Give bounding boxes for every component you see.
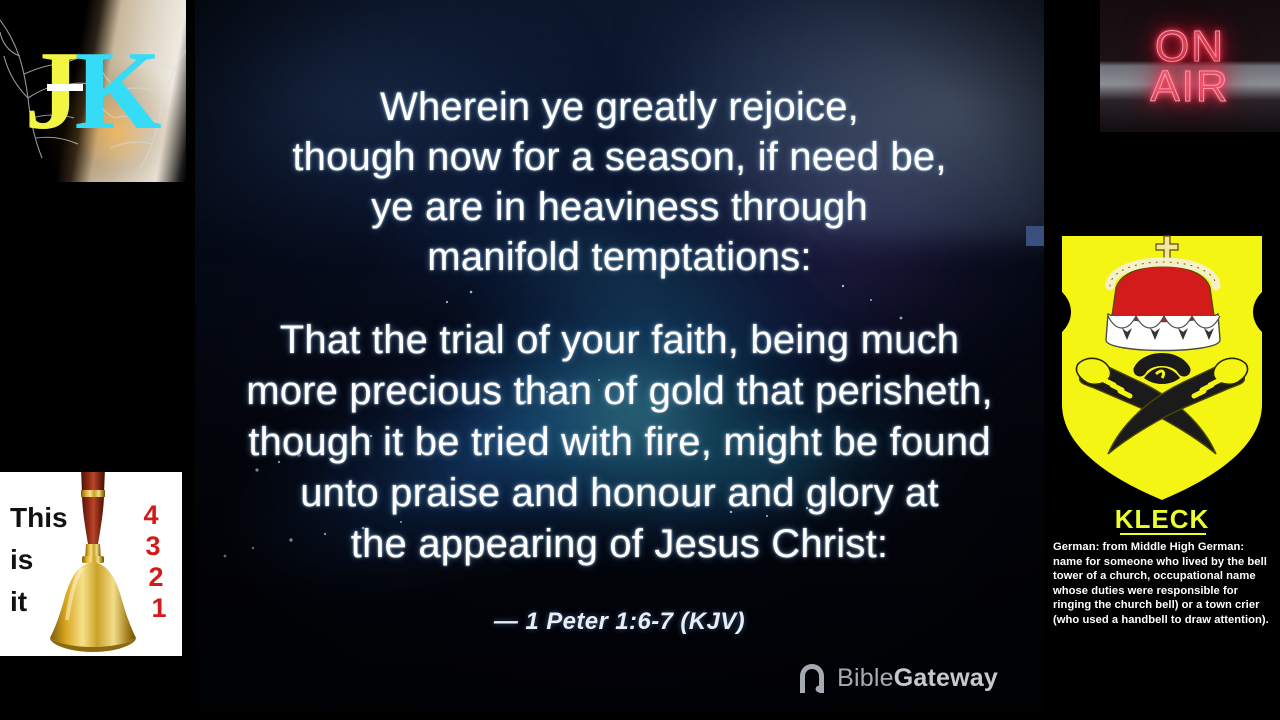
verse-line: though it be tried with fire, might be f… [195, 417, 1044, 468]
countdown-bell-panel[interactable]: This is it 4 3 2 1 [0, 472, 182, 656]
bell-caption-line: is [10, 539, 66, 581]
kleck-description-line: whose duties were responsible for [1053, 584, 1273, 599]
verse-line: ye are in heaviness through [195, 182, 1044, 232]
verse-line: manifold temptations: [195, 232, 1044, 282]
countdown-digit: 1 [144, 593, 174, 624]
verse-line: That the trial of your faith, being much [195, 315, 1044, 366]
kleck-description-line: ringing the church bell) or a town crier [1053, 598, 1273, 613]
verse-line: unto praise and honour and glory at [195, 468, 1044, 519]
bell-caption-line: This [10, 497, 66, 539]
jk-logo-panel[interactable]: J K [0, 0, 186, 182]
neon-word-air: AIR [1150, 65, 1229, 109]
jk-letters: J K [0, 0, 186, 182]
kleck-shield-graphic [1044, 228, 1280, 506]
countdown-digit: 2 [138, 562, 174, 593]
kleck-description-line: German: from Middle High German: [1053, 540, 1273, 555]
verse-line: more precious than of gold that perishet… [195, 366, 1044, 417]
jk-letter-j: J [24, 35, 80, 147]
kleck-description-line: tower of a church, occupational name [1053, 569, 1273, 584]
jk-letter-k: K [74, 35, 161, 147]
gateway-arch-icon [797, 662, 827, 694]
countdown-digit: 3 [132, 531, 174, 562]
bell-caption: This is it [10, 497, 66, 623]
verse-line: the appearing of Jesus Christ: [195, 519, 1044, 570]
on-air-neon-text: ON AIR [1100, 0, 1280, 132]
biblegateway-watermark: BibleGateway [797, 662, 998, 694]
kleck-description-line: name for someone who lived by the bell [1053, 555, 1273, 570]
screen: Wherein ye greatly rejoice, though now f… [0, 0, 1280, 720]
kleck-description: German: from Middle High German: name fo… [1053, 540, 1273, 628]
kleck-description-line: (who used a handbell to draw attention). [1053, 613, 1273, 628]
kleck-edge-sliver [1026, 226, 1044, 246]
verse-line: though now for a season, if need be, [195, 132, 1044, 182]
scripture-citation: — 1 Peter 1:6-7 (KJV) [494, 608, 745, 636]
kleck-title-underline [1120, 533, 1206, 535]
biblegateway-wordmark: BibleGateway [837, 664, 998, 693]
jk-separator-dash [47, 84, 83, 91]
bell-caption-line: it [10, 581, 66, 623]
verse-paragraph-1: Wherein ye greatly rejoice, though now f… [195, 82, 1044, 282]
countdown-digit: 4 [132, 500, 170, 531]
verse-line: Wherein ye greatly rejoice, [195, 82, 1044, 132]
wordmark-gateway: Gateway [894, 664, 998, 692]
scripture-overlay: Wherein ye greatly rejoice, though now f… [195, 0, 1044, 712]
verse-paragraph-2: That the trial of your faith, being much… [195, 315, 1044, 570]
kleck-coat-of-arms-panel[interactable]: KLECK German: from Middle High German: n… [1044, 226, 1280, 660]
kleck-title: KLECK [1044, 504, 1280, 535]
bell-countdown-numbers: 4 3 2 1 [132, 500, 174, 624]
on-air-sign-panel[interactable]: ON AIR [1100, 0, 1280, 132]
video-player-panel[interactable]: Wherein ye greatly rejoice, though now f… [195, 0, 1044, 712]
wordmark-bible: Bible [837, 664, 894, 692]
